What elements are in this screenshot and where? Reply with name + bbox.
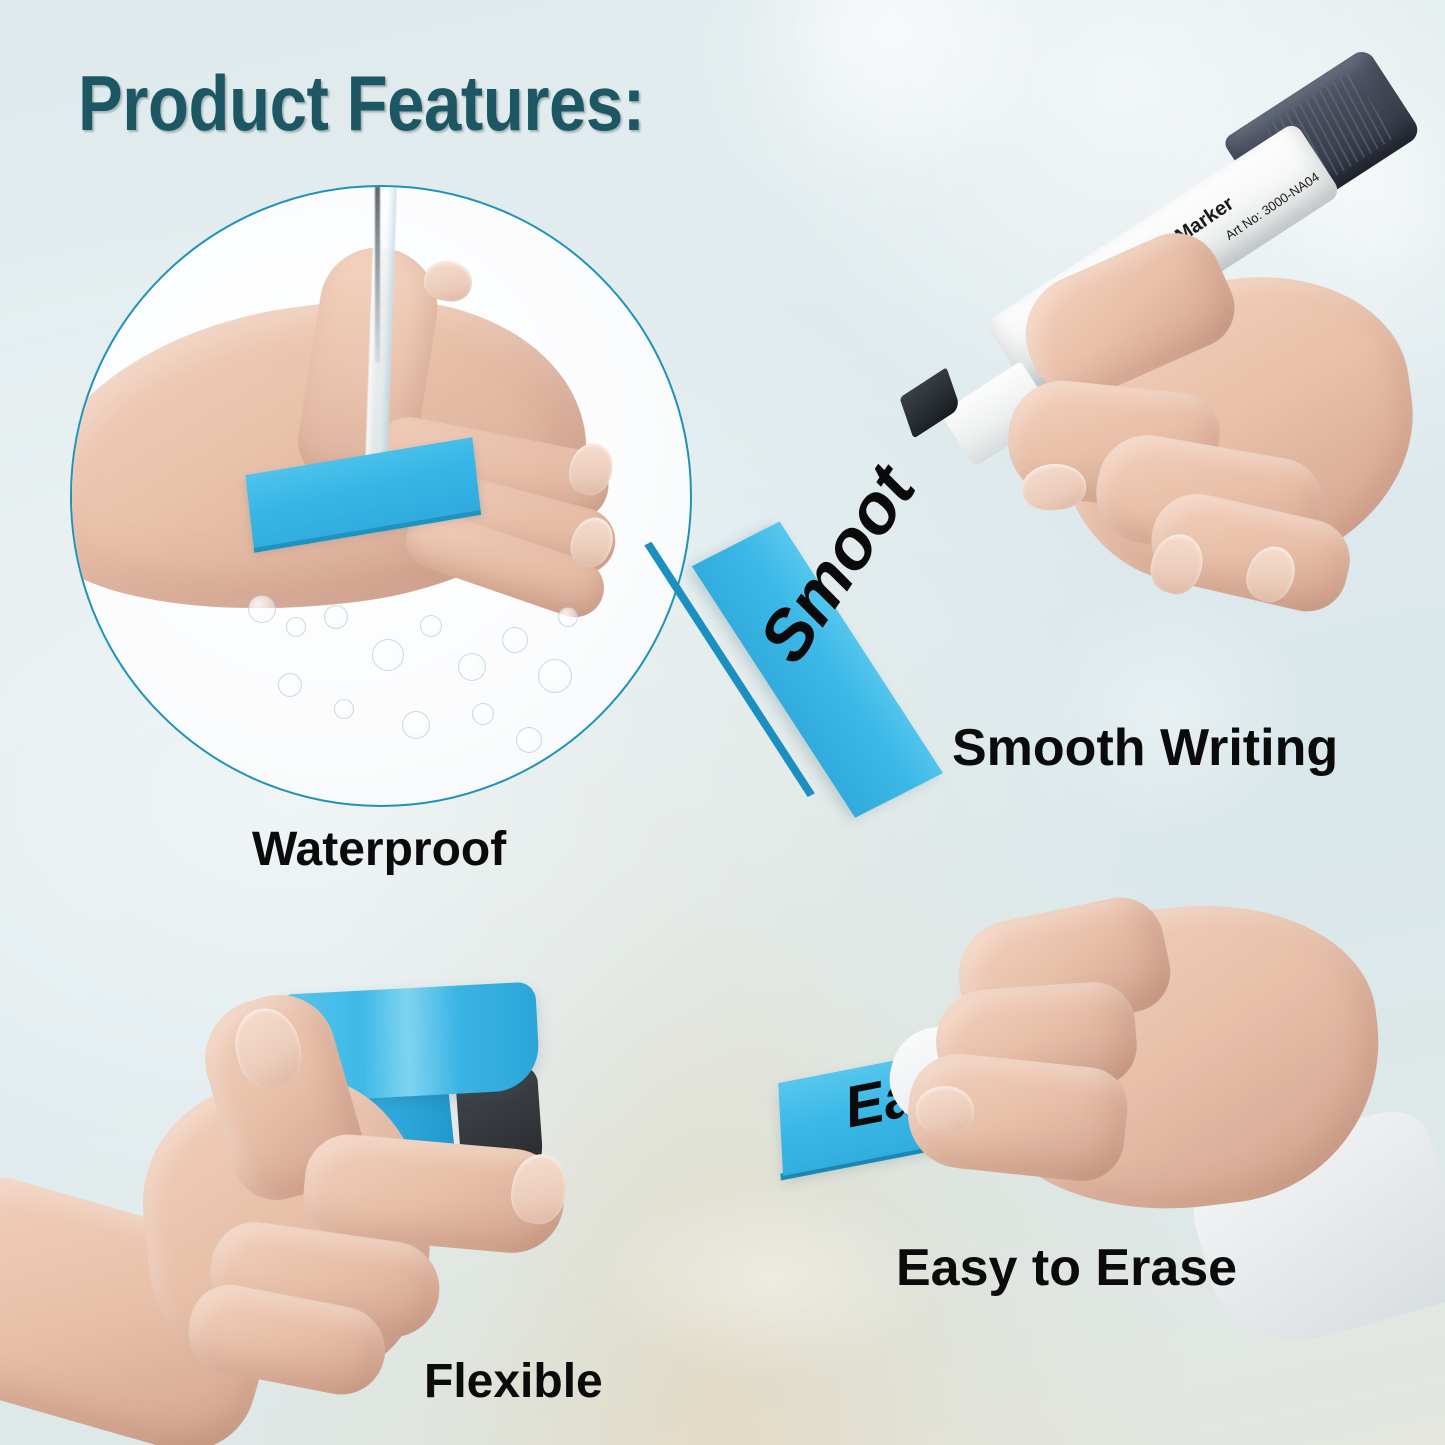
caption-smooth-writing: Smooth Writing <box>952 722 1338 774</box>
water-droplets-icon <box>324 605 348 629</box>
water-droplets-icon <box>372 639 404 671</box>
water-droplets-icon <box>278 673 302 697</box>
feature-panel-waterproof <box>70 185 692 807</box>
feature-panel-easy-to-erase: Easy <box>740 880 1440 1300</box>
caption-waterproof: Waterproof <box>252 826 506 874</box>
water-droplets-icon <box>458 653 486 681</box>
water-droplets-icon <box>516 727 542 753</box>
waterproof-illustration <box>72 187 690 805</box>
water-droplets-icon <box>286 617 306 637</box>
water-droplets-icon <box>472 703 494 725</box>
water-droplets-icon <box>248 595 276 623</box>
water-droplets-icon <box>334 699 354 719</box>
water-droplets-icon <box>502 627 528 653</box>
marker-art-no-label: Art No: 3000-NA04 <box>1222 169 1321 243</box>
caption-easy-to-erase: Easy to Erase <box>896 1242 1237 1294</box>
product-features-infographic: Product Features: <box>0 0 1445 1445</box>
water-droplets-icon <box>538 659 572 693</box>
water-droplets-icon <box>420 615 442 637</box>
page-title: Product Features: <box>78 64 645 142</box>
water-droplets-icon <box>558 607 578 627</box>
hand-holding-marker-icon <box>1000 238 1430 618</box>
caption-flexible: Flexible <box>424 1358 603 1406</box>
water-droplets-icon <box>402 711 430 739</box>
water-stream-core-icon <box>375 185 380 363</box>
